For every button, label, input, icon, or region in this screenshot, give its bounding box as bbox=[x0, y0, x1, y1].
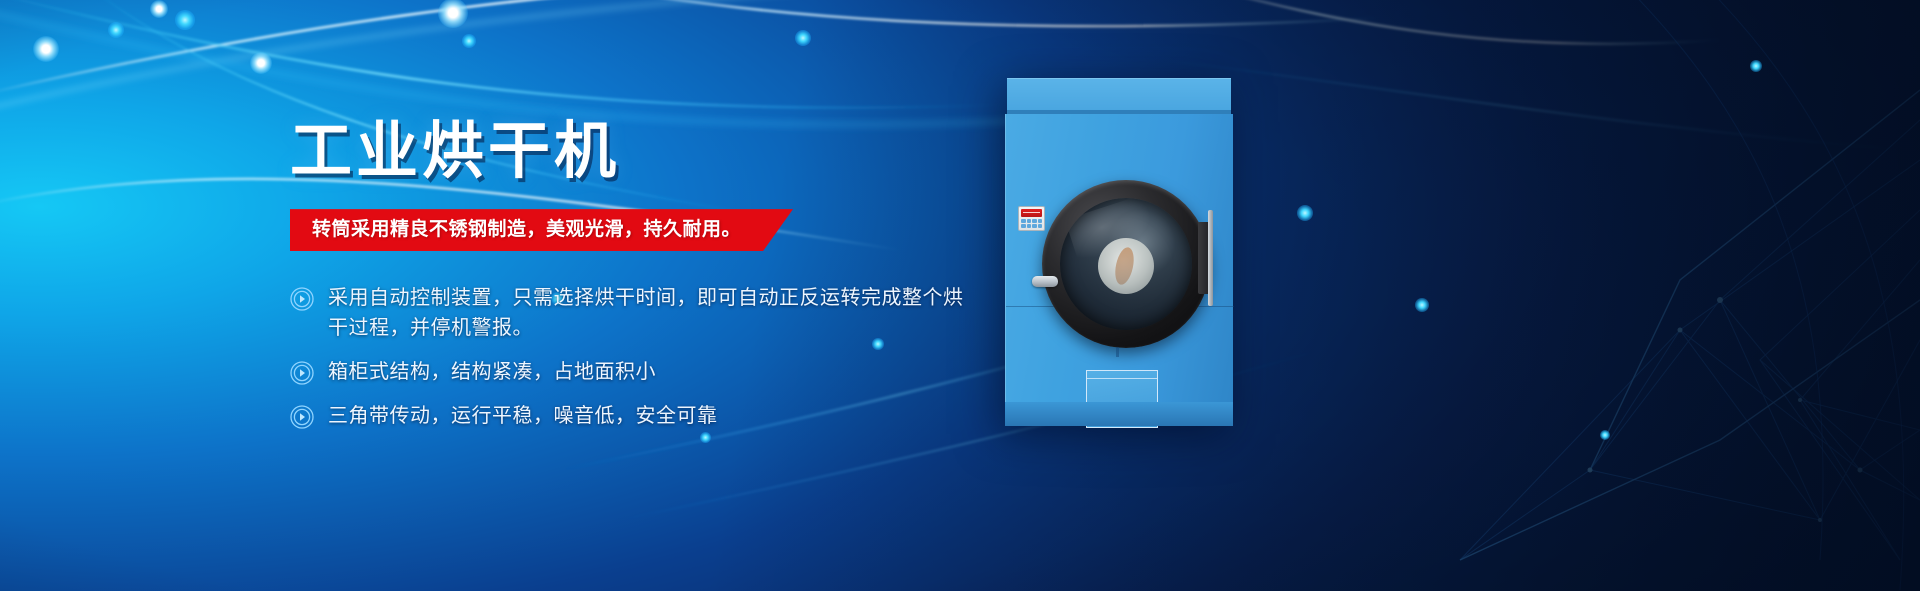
list-item: 三角带传动，运行平稳，噪音低，安全可靠 bbox=[290, 401, 990, 431]
highlight-text: 转筒采用精良不锈钢制造，美观光滑，持久耐用。 bbox=[312, 219, 741, 240]
product-image-industrial-dryer bbox=[1005, 78, 1233, 426]
machine-body bbox=[1005, 114, 1233, 402]
control-panel-display bbox=[1021, 209, 1042, 217]
list-item: 箱柜式结构，结构紧凑，占地面积小 bbox=[290, 357, 990, 387]
machine-label-mark bbox=[1116, 347, 1119, 357]
feature-text: 三角带传动，运行平稳，噪音低，安全可靠 bbox=[328, 401, 718, 431]
control-panel-keypad bbox=[1021, 219, 1042, 228]
control-panel bbox=[1018, 206, 1045, 231]
circled-chevron-right-icon bbox=[290, 361, 314, 385]
list-item: 采用自动控制装置，只需选择烘干时间，即可自动正反运转完成整个烘干过程，并停机警报… bbox=[290, 283, 990, 343]
machine-top-cover bbox=[1007, 78, 1231, 110]
drum-door bbox=[1042, 180, 1210, 348]
circled-chevron-right-icon bbox=[290, 287, 314, 311]
door-handle bbox=[1032, 276, 1058, 287]
circled-chevron-right-icon bbox=[290, 405, 314, 429]
door-hinge-rod bbox=[1208, 210, 1213, 306]
page-title: 工业烘干机 bbox=[290, 118, 990, 183]
banner-content: 工业烘干机 转筒采用精良不锈钢制造，美观光滑，持久耐用。 采用自动控制装置，只需… bbox=[290, 118, 990, 447]
feature-text: 箱柜式结构，结构紧凑，占地面积小 bbox=[328, 357, 656, 387]
highlight-ribbon: 转筒采用精良不锈钢制造，美观光滑，持久耐用。 bbox=[290, 209, 793, 251]
machine-base bbox=[1005, 402, 1233, 426]
feature-text: 采用自动控制装置，只需选择烘干时间，即可自动正反运转完成整个烘干过程，并停机警报… bbox=[328, 283, 968, 343]
drum-door-glass bbox=[1060, 198, 1192, 330]
hero-banner: 工业烘干机 转筒采用精良不锈钢制造，美观光滑，持久耐用。 采用自动控制装置，只需… bbox=[0, 0, 1920, 591]
feature-list: 采用自动控制装置，只需选择烘干时间，即可自动正反运转完成整个烘干过程，并停机警报… bbox=[290, 283, 990, 431]
